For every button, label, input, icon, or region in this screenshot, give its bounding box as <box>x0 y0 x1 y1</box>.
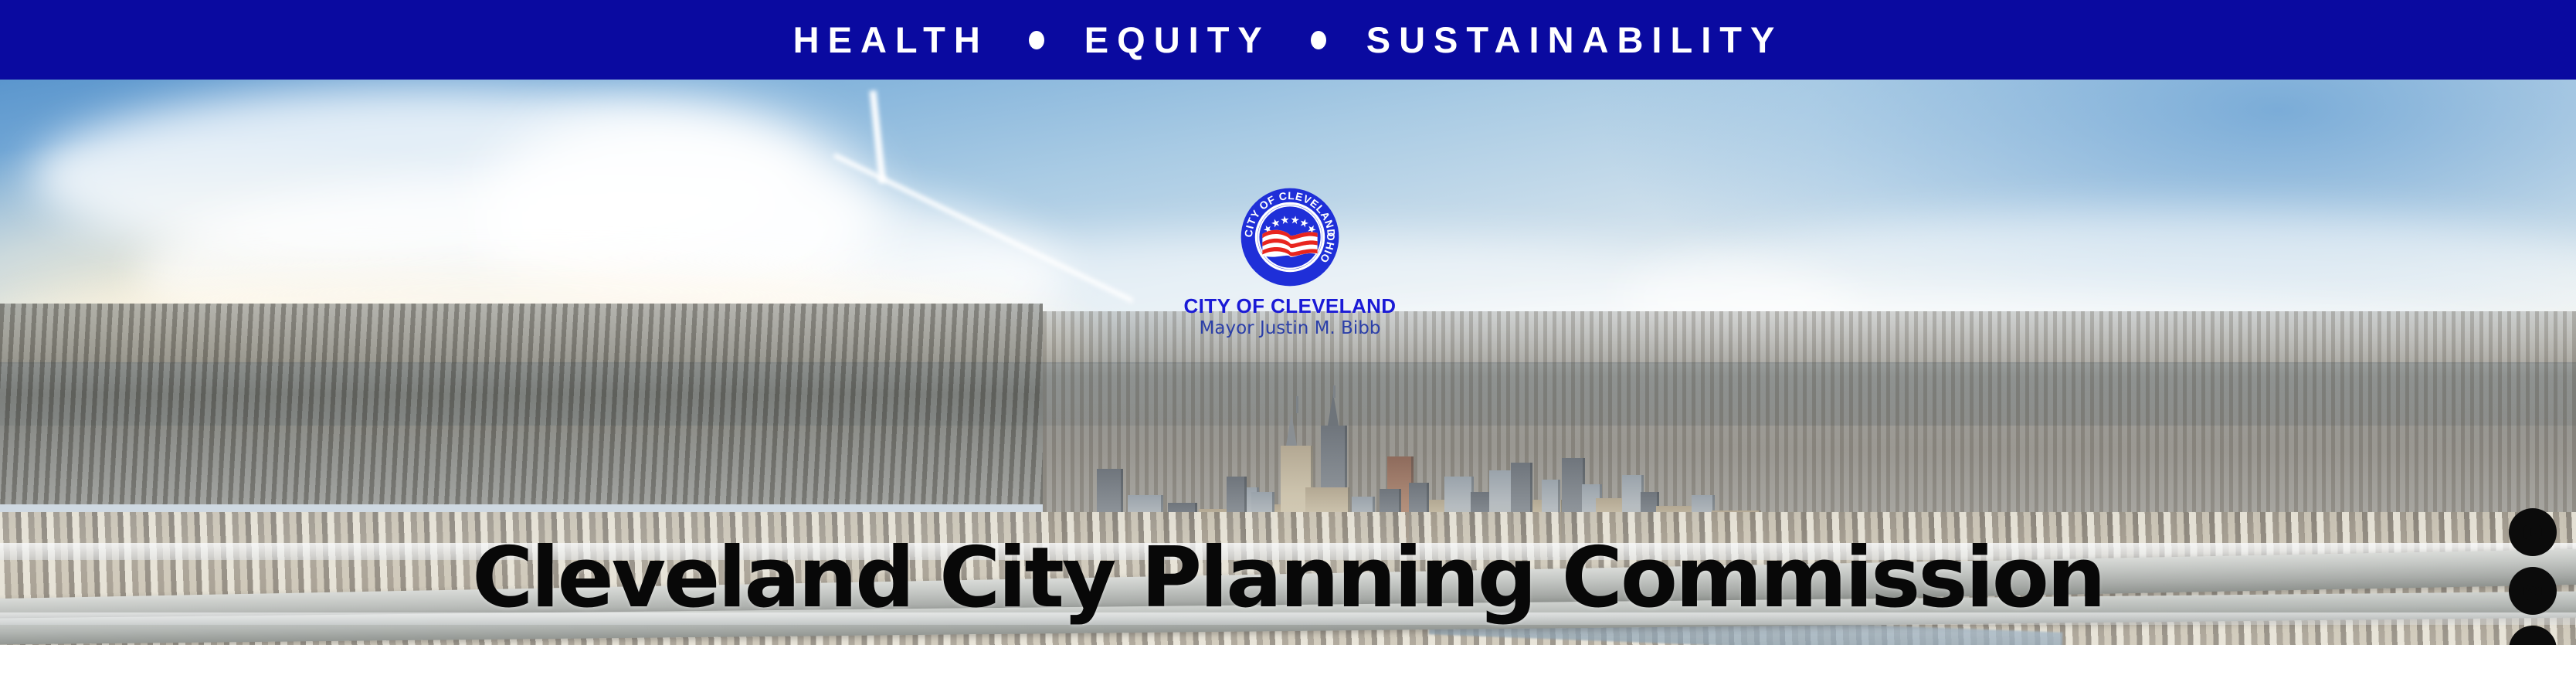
facebook-link[interactable] <box>2509 626 2557 645</box>
youtube-icon <box>2518 517 2547 547</box>
facebook-icon <box>2518 635 2547 645</box>
city-of-cleveland-logo[interactable]: CITY OF CLEVELAND OHIO <box>1155 172 1425 339</box>
antenna <box>1296 396 1298 413</box>
banner-word-health: HEALTH <box>793 22 989 58</box>
bottom-white-strip <box>0 645 2576 682</box>
banner-word-sustainability: SUSTAINABILITY <box>1366 22 1784 58</box>
terminal-tower-spire <box>1286 413 1297 446</box>
instagram-icon <box>2518 576 2547 606</box>
hero-photo-cleveland-skyline: CITY OF CLEVELAND OHIO <box>0 80 2576 645</box>
instagram-link[interactable] <box>2509 567 2557 615</box>
logo-city-name: CITY OF CLEVELAND <box>1155 296 1425 317</box>
page-title: Cleveland City Planning Commission <box>0 537 2576 620</box>
logo-mayor-name: Mayor Justin M. Bibb <box>1155 319 1425 338</box>
cleveland-city-planning-commission-banner: HEALTH EQUITY SUSTAINABILITY <box>0 0 2576 682</box>
banner-word-equity: EQUITY <box>1084 22 1271 58</box>
social-media-links <box>2509 508 2563 645</box>
antenna <box>1333 385 1336 398</box>
city-of-cleveland-seal-icon: CITY OF CLEVELAND OHIO <box>1239 186 1341 288</box>
bullet-dot-icon <box>1029 31 1044 49</box>
values-banner: HEALTH EQUITY SUSTAINABILITY <box>0 0 2576 80</box>
key-tower-spire <box>1328 393 1339 426</box>
bullet-dot-icon <box>1311 31 1326 49</box>
youtube-link[interactable] <box>2509 508 2557 556</box>
west-side-neighborhoods <box>0 304 1043 504</box>
